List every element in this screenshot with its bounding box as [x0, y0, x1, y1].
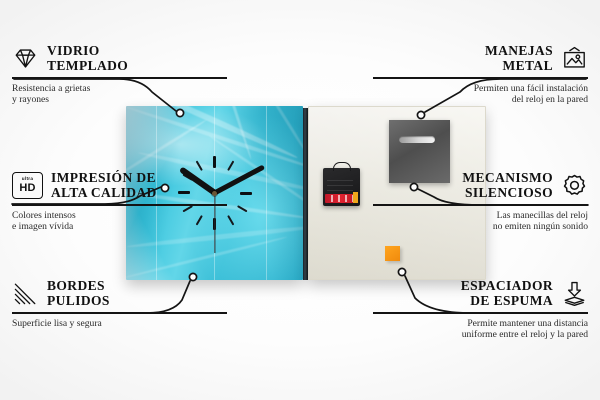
feature-title-line2: METAL [485, 59, 553, 74]
feature-manejas-metal[interactable]: MANEJAS METAL Permiten una fácil instala… [373, 44, 588, 106]
feature-title-line2: ALTA CALIDAD [51, 186, 157, 201]
feature-espaciador-espuma[interactable]: ESPACIADOR DE ESPUMA Permite mantener un… [373, 279, 588, 341]
feature-title-line1: VIDRIO [47, 44, 128, 59]
feature-subtitle-line2: y rayones [12, 94, 227, 106]
feature-title-line1: BORDES [47, 279, 110, 294]
feature-rule [373, 312, 588, 314]
ultra-hd-large-text: HD [19, 183, 35, 194]
feature-subtitle-line1: Las manecillas del reloj [373, 210, 588, 222]
polished-edge-icon [12, 280, 39, 307]
feature-rule [12, 77, 227, 79]
feature-subtitle-line2: e imagen vívida [12, 221, 227, 233]
feature-subtitle-line2: uniforme entre el reloj y la pared [373, 329, 588, 341]
foam-spacer-square [385, 246, 400, 261]
feature-subtitle-line1: Superficie lisa y segura [12, 318, 227, 330]
feature-title-line2: TEMPLADO [47, 59, 128, 74]
feature-rule [373, 77, 588, 79]
feature-mecanismo-silencioso[interactable]: MECANISMO SILENCIOSO Las manecillas del … [373, 171, 588, 233]
ultra-hd-icon: ultra HD [12, 172, 43, 199]
feature-title-line2: DE ESPUMA [461, 294, 553, 309]
feature-title-line1: MECANISMO [462, 171, 553, 186]
feature-rule [12, 204, 227, 206]
gear-icon [561, 172, 588, 199]
feature-title-line2: SILENCIOSO [462, 186, 553, 201]
feature-subtitle-line1: Permite mantener una distancia [373, 318, 588, 330]
feature-title-line2: PULIDOS [47, 294, 110, 309]
feature-bordes-pulidos[interactable]: BORDES PULIDOS Superficie lisa y segura [12, 279, 227, 329]
feature-rule [373, 204, 588, 206]
feature-subtitle-line1: Colores intensos [12, 210, 227, 222]
feature-impresion-alta-calidad[interactable]: ultra HD IMPRESIÓN DE ALTA CALIDAD Color… [12, 171, 227, 233]
picture-hanger-icon [561, 45, 588, 72]
feature-title-line1: IMPRESIÓN DE [51, 171, 157, 186]
feature-vidrio-templado[interactable]: VIDRIO TEMPLADO Resistencia a grietas y … [12, 44, 227, 106]
diamond-icon [12, 45, 39, 72]
feature-title-line1: ESPACIADOR [461, 279, 553, 294]
feature-rule [12, 312, 227, 314]
infographic-canvas: VIDRIO TEMPLADO Resistencia a grietas y … [0, 0, 600, 400]
feature-subtitle-line2: no emiten ningún sonido [373, 221, 588, 233]
feature-subtitle-line1: Resistencia a grietas [12, 83, 227, 95]
foam-spacer-icon [561, 280, 588, 307]
feature-subtitle-line2: del reloj en la pared [373, 94, 588, 106]
feature-subtitle-line1: Permiten una fácil instalación [373, 83, 588, 95]
clock-movement-box [323, 168, 360, 206]
feature-title-line1: MANEJAS [485, 44, 553, 59]
